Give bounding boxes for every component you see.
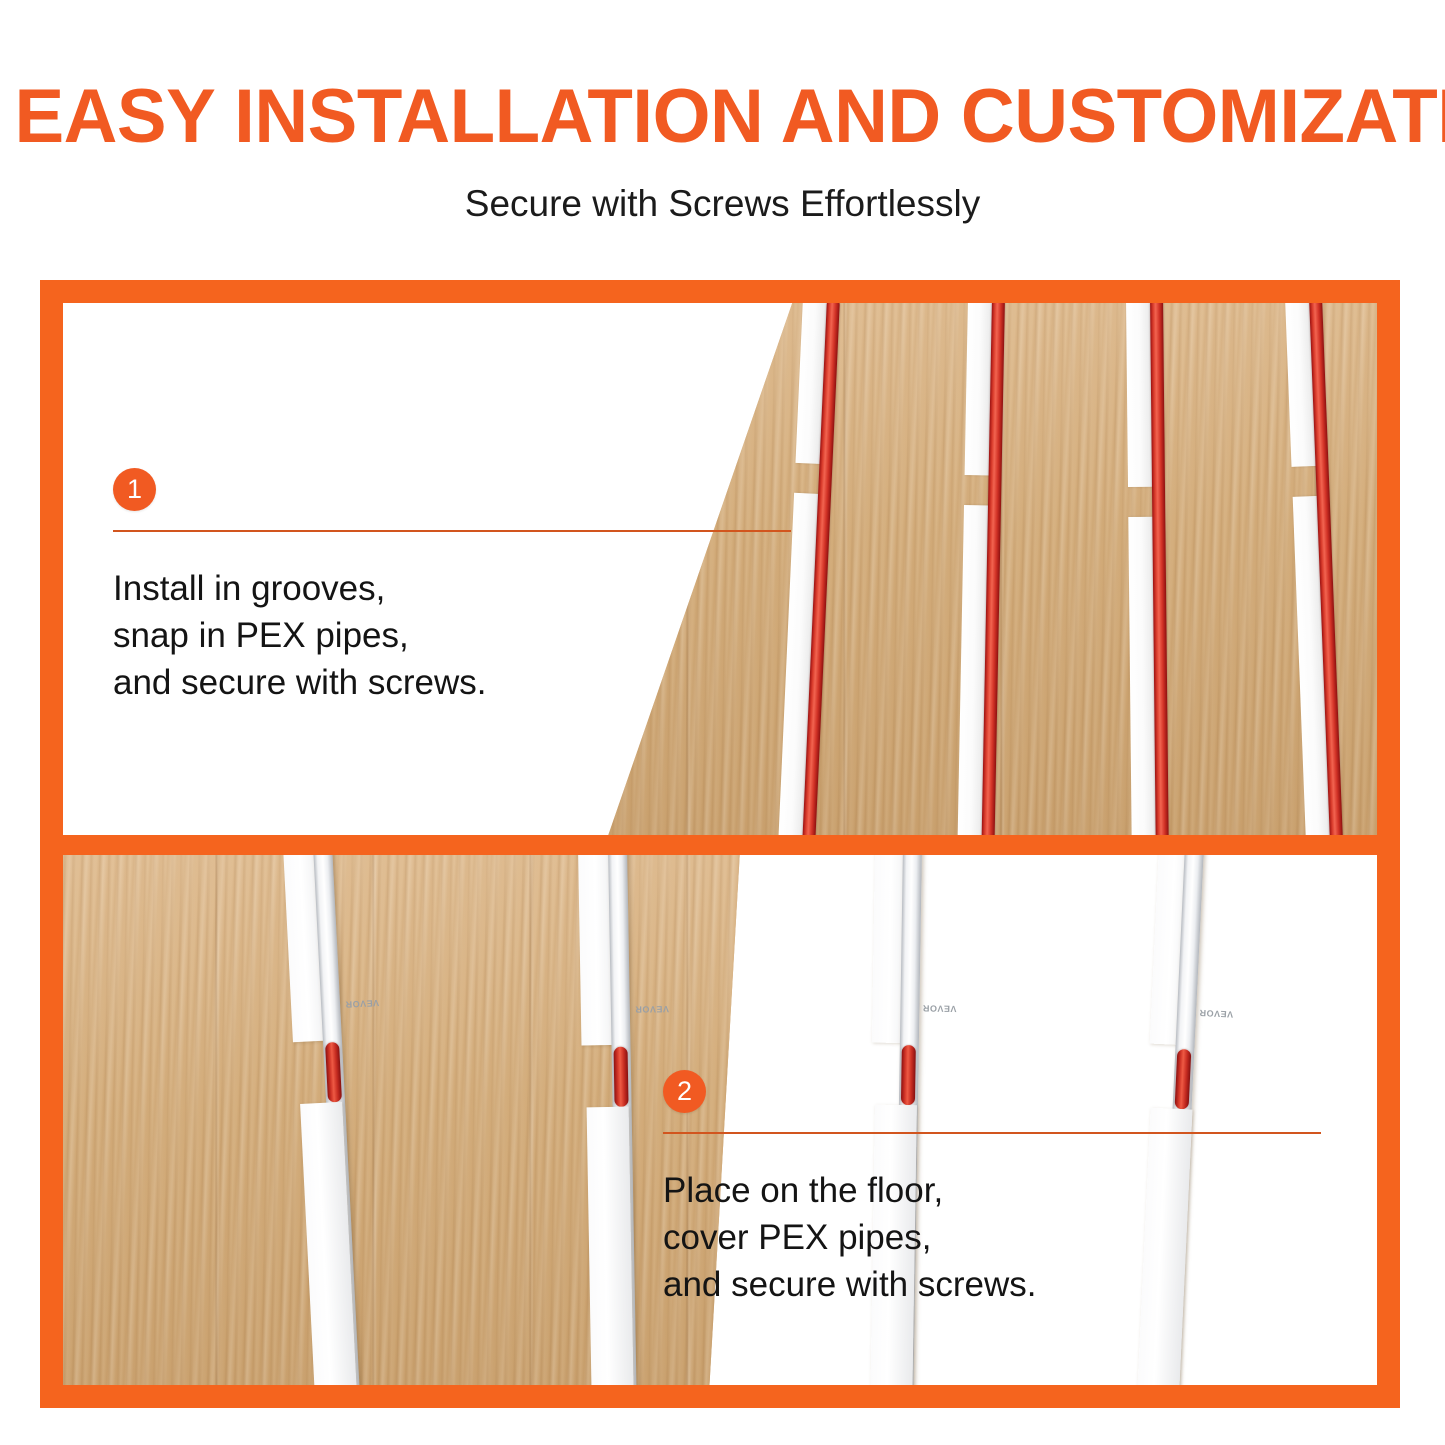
step-line: snap in PEX pipes, xyxy=(113,612,803,659)
step-line: Install in grooves, xyxy=(113,565,803,612)
step-divider-rule xyxy=(113,530,791,532)
pex-pipe xyxy=(614,1047,629,1107)
brand-mark: VEVOR xyxy=(635,1004,669,1015)
step-1-block: 1 Install in grooves, snap in PEX pipes,… xyxy=(113,468,803,706)
step-2-description: Place on the floor, cover PEX pipes, and… xyxy=(663,1167,1353,1308)
header: EASY INSTALLATION AND CUSTOMIZATION Secu… xyxy=(0,0,1445,250)
brand-mark: VEVOR xyxy=(922,1003,956,1014)
page-subtitle: Secure with Screws Effortlessly xyxy=(0,182,1445,226)
page-title: EASY INSTALLATION AND CUSTOMIZATION xyxy=(14,74,1430,160)
pex-pipe xyxy=(325,1042,342,1103)
cover-strip: VEVOR xyxy=(608,855,618,1385)
step-2-block: 2 Place on the floor, cover PEX pipes, a… xyxy=(663,1070,1353,1308)
step-number-badge: 2 xyxy=(663,1070,706,1113)
step-number-badge: 1 xyxy=(113,468,156,511)
step-1-description: Install in grooves, snap in PEX pipes, a… xyxy=(113,565,803,706)
brand-mark: VEVOR xyxy=(1199,1008,1233,1020)
step-line: Place on the floor, xyxy=(663,1167,1353,1214)
step-divider-rule xyxy=(663,1132,1321,1134)
step-line: and secure with screws. xyxy=(113,659,803,706)
step-line: and secure with screws. xyxy=(663,1261,1353,1308)
step-line: cover PEX pipes, xyxy=(663,1214,1353,1261)
brand-mark: VEVOR xyxy=(345,998,379,1010)
cover-end-plate xyxy=(587,1107,634,1385)
